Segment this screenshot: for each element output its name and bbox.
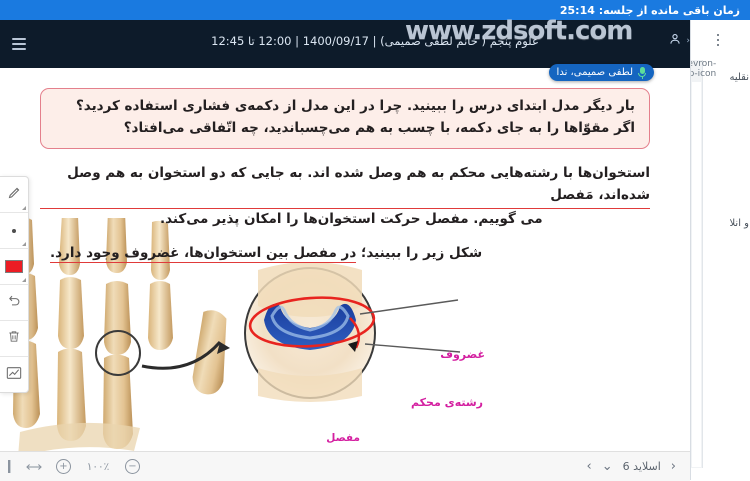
slide-number-label: اسلاید 6: [623, 460, 661, 473]
prev-slide-button[interactable]: ‹: [587, 460, 592, 473]
thickness-tool[interactable]: [0, 213, 28, 249]
color-swatch-icon: [5, 260, 23, 273]
undo-tool[interactable]: [0, 285, 28, 321]
question-line-2: اگر مقوّاها را به جای دکمه، با چسب به هم…: [55, 118, 635, 140]
question-box: بار دیگر مدل ابتدای درس را ببینید. چرا د…: [40, 88, 650, 149]
session-timer-text: زمان باقی مانده از جلسه: 25:14: [560, 4, 740, 17]
slide-dropdown-icon[interactable]: ⌄: [602, 460, 613, 473]
dropdown-corner-icon[interactable]: [22, 242, 26, 246]
scrollbar-thumb[interactable]: [692, 82, 701, 467]
body-line-2: شکل زیر را ببینید؛ در مفصل بین استخوان‌ه…: [40, 243, 650, 265]
slide-bottom-toolbar: + ۱۰۰٪ − ‹ ⌄ اسلاید 6 ›: [0, 451, 690, 481]
body-line-1a: استخوان‌ها با رشته‌هایی محکم به هم وصل ش…: [40, 163, 650, 209]
active-speaker-name: لطفی صمیمی، ندا: [557, 67, 633, 78]
slide-stage[interactable]: بار دیگر مدل ابتدای درس را ببینید. چرا د…: [0, 68, 690, 451]
app-header: علوم پنجم ( خانم لطفی صمیمی) | 1400/09/1…: [0, 20, 750, 68]
chart-tool[interactable]: [0, 357, 28, 392]
undo-icon: [7, 293, 22, 312]
line-chart-icon: [6, 365, 22, 384]
panel-toggle-icon[interactable]: [8, 460, 12, 473]
minus-circle-icon[interactable]: −: [125, 459, 140, 474]
microphone-icon: [638, 67, 646, 78]
delete-tool[interactable]: [0, 321, 28, 357]
class-title: علوم پنجم ( خانم لطفی صمیمی) | 1400/09/1…: [0, 34, 750, 48]
dot-icon: [12, 229, 16, 233]
plus-circle-icon[interactable]: +: [56, 459, 71, 474]
question-line-1: بار دیگر مدل ابتدای درس را ببینید. چرا د…: [55, 96, 635, 118]
right-panel-item-1[interactable]: نقلیه: [729, 72, 749, 83]
user-icon: [668, 32, 682, 49]
label-strong-fiber: رشته‌ی محکم: [411, 396, 483, 409]
body-line-1b: می گوییم. مفصل حرکت استخوان‌ها را امکان …: [40, 209, 650, 231]
session-timer-bar: زمان باقی مانده از جلسه: 25:14: [0, 0, 750, 20]
body-line-2-plain: شکل زیر را ببینید؛: [356, 245, 482, 261]
right-panel-scrollbar[interactable]: [691, 60, 703, 468]
pencil-icon: [7, 185, 22, 204]
zoom-level: ۱۰۰٪: [85, 461, 111, 473]
lesson-body-text: استخوان‌ها با رشته‌هایی محکم به هم وصل ش…: [40, 163, 650, 264]
pencil-tool[interactable]: [0, 177, 28, 213]
fit-width-icon[interactable]: [26, 462, 42, 472]
more-vertical-icon[interactable]: [711, 32, 725, 48]
trash-icon: [7, 329, 21, 348]
dropdown-corner-icon[interactable]: [22, 206, 26, 210]
dropdown-corner-icon[interactable]: [22, 278, 26, 282]
annotation-toolbar: [0, 176, 29, 393]
right-side-panel: chevron-up-icon نقلیه و انلا: [690, 20, 750, 480]
next-slide-button[interactable]: ›: [671, 460, 676, 473]
label-cartilage: غضروف: [440, 348, 485, 361]
presentation-app: زمان باقی مانده از جلسه: 25:14 علوم پنجم…: [0, 0, 750, 480]
user-menu-button[interactable]: ‹: [668, 32, 690, 49]
active-speaker-badge: لطفی صمیمی، ندا: [549, 64, 654, 81]
color-tool[interactable]: [0, 249, 28, 285]
chevron-up-icon[interactable]: chevron-up-icon: [691, 62, 702, 76]
right-panel-item-2[interactable]: و انلا: [729, 218, 749, 229]
body-line-2-underlined: در مفصل بین استخوان‌ها، غضروف وجود دارد.: [50, 245, 356, 263]
label-joint: مفصل: [326, 432, 360, 444]
